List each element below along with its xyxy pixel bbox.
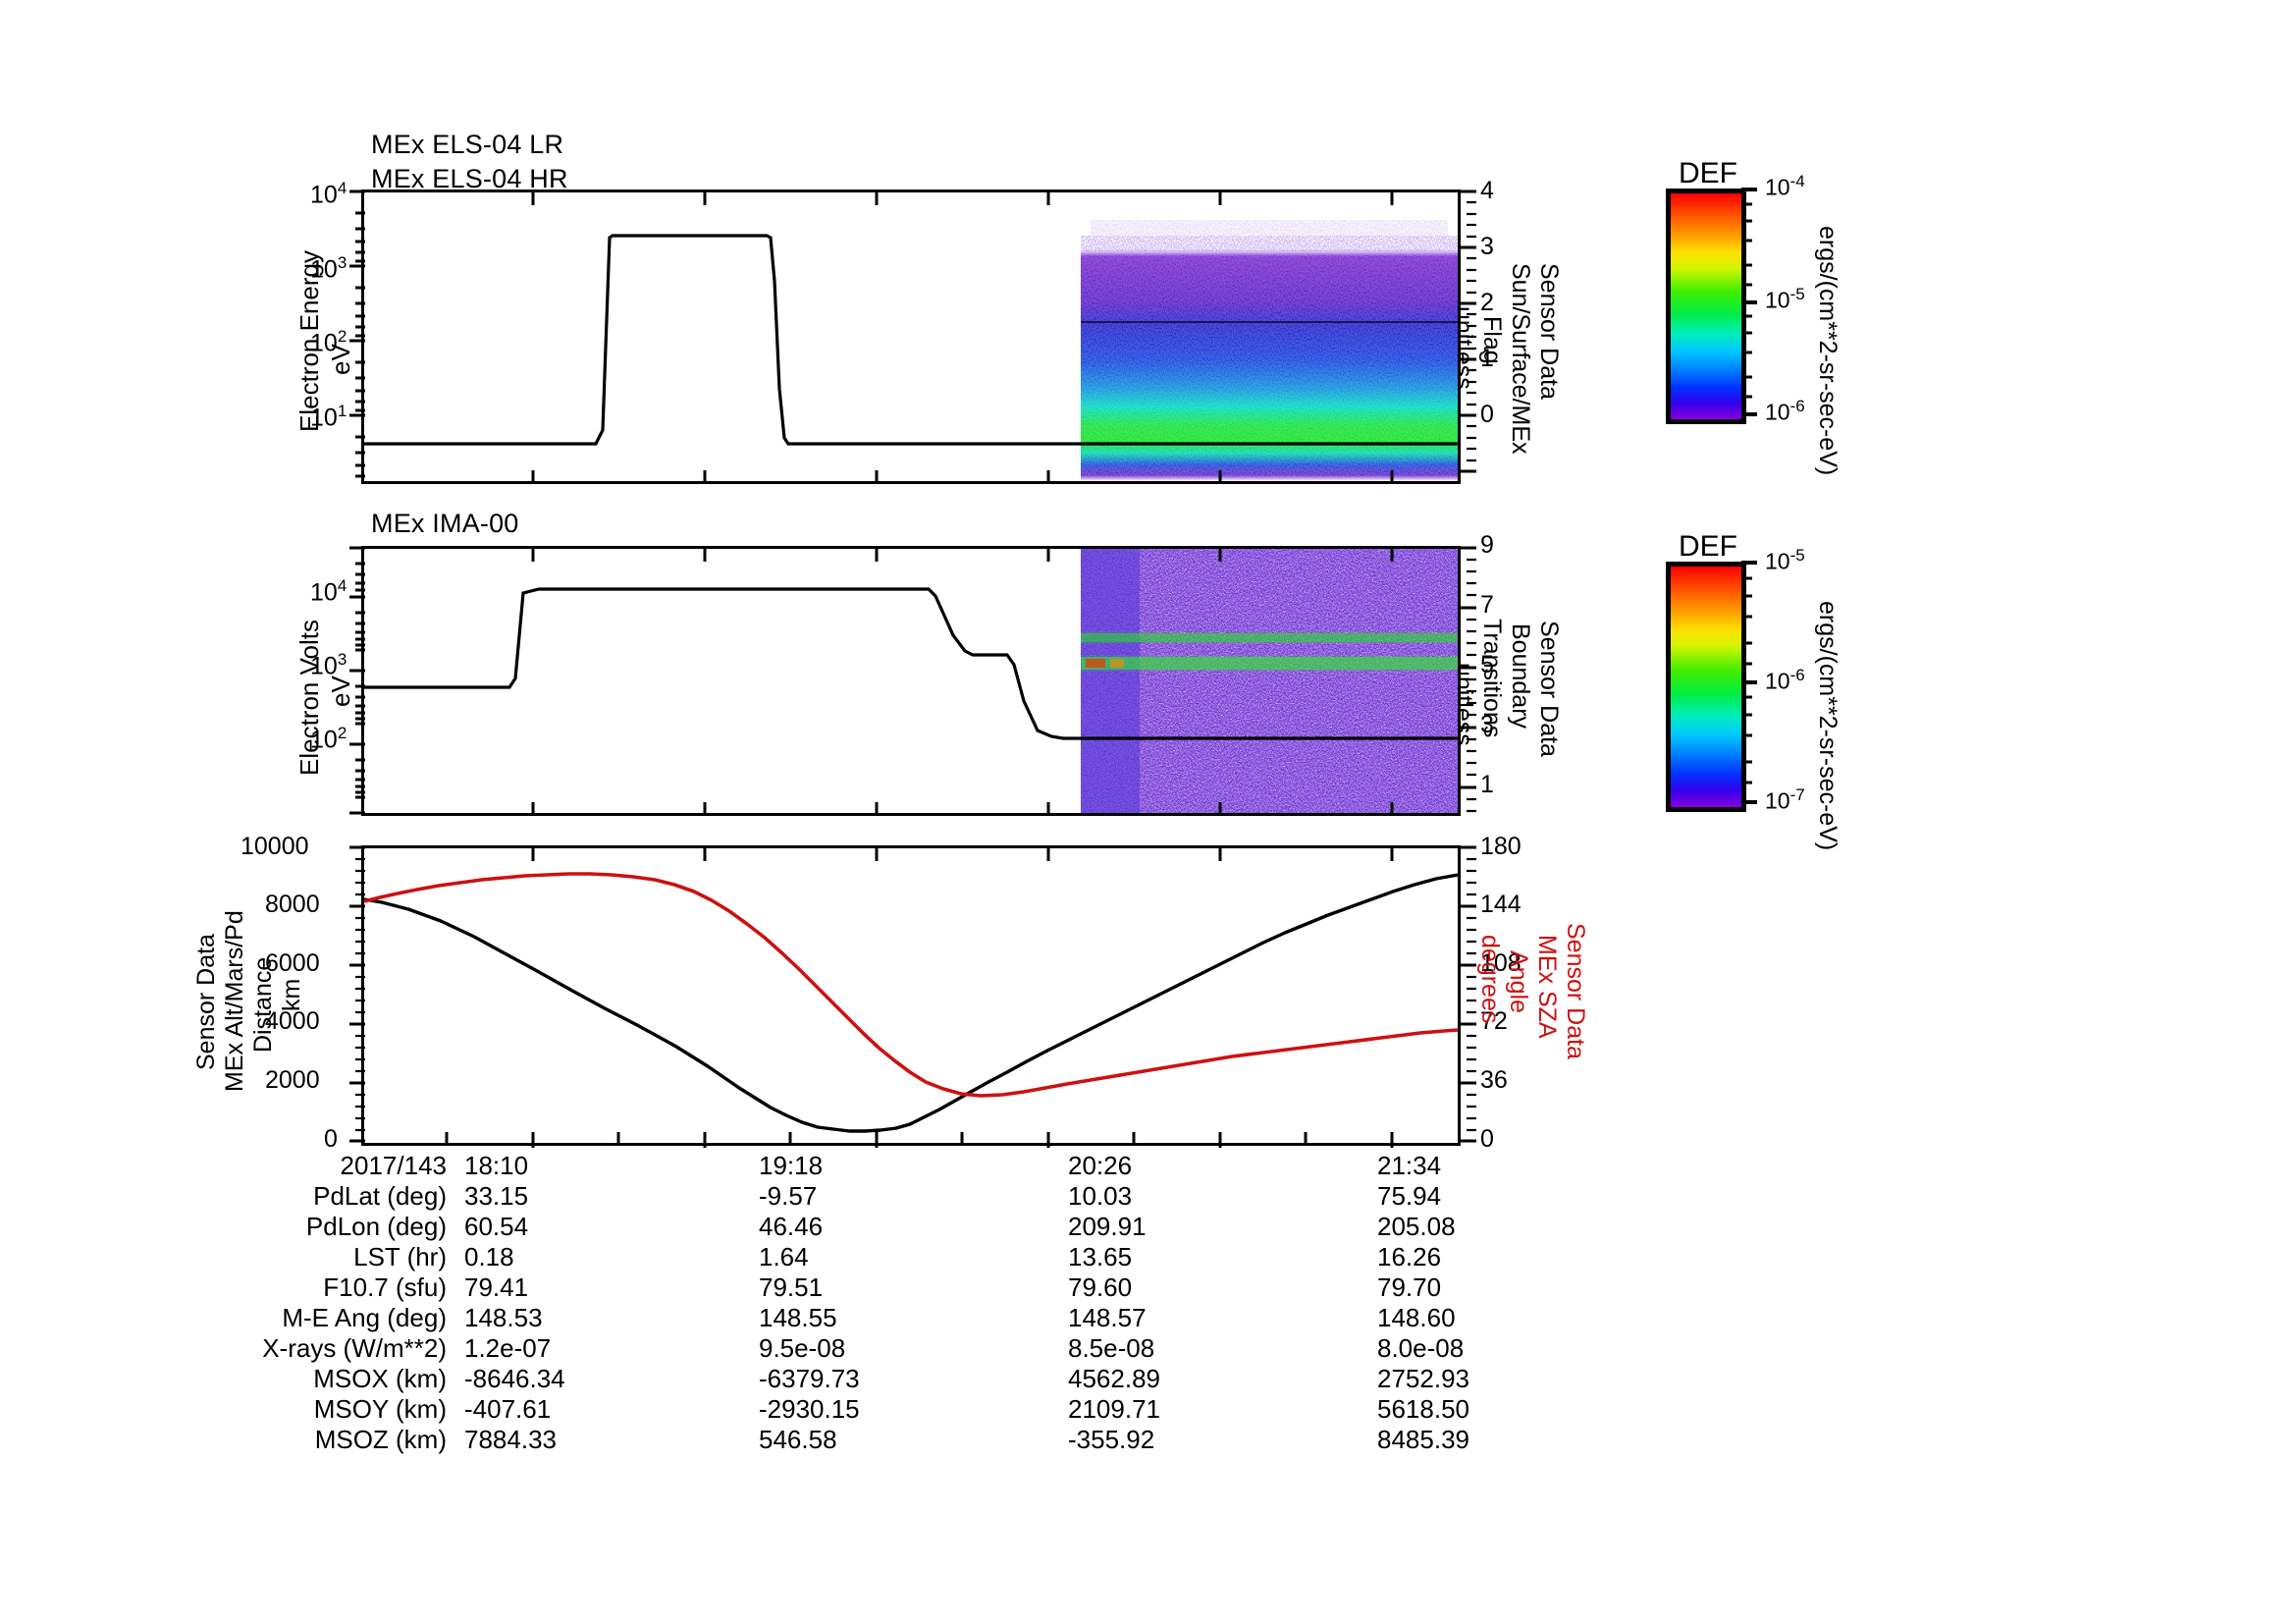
row-value: 148.55 (759, 1303, 1068, 1333)
els-y2tick-3: 3 (1480, 233, 1494, 261)
table-row: F10.7 (sfu) 79.41 79.51 79.60 79.70 (191, 1272, 1469, 1303)
row-value: 209.91 (1068, 1212, 1377, 1242)
row-value: 79.60 (1068, 1272, 1377, 1303)
row-value: 148.60 (1377, 1303, 1469, 1333)
alt-left-axis-label-2: MEx Alt/Mars/Pd (221, 910, 249, 1092)
alt-y2tick-144: 144 (1480, 891, 1522, 919)
row-value: 8.5e-08 (1068, 1333, 1377, 1364)
row-value: 4562.89 (1068, 1364, 1377, 1394)
row-value: -6379.73 (759, 1364, 1068, 1394)
panel-els-plot (364, 192, 1458, 481)
colorbar-1-top-label: 10-4 (1765, 172, 1805, 201)
row-label: F10.7 (sfu) (191, 1272, 464, 1303)
ima-y2tick-7: 7 (1480, 591, 1494, 620)
row-label: M-E Ang (deg) (191, 1303, 464, 1333)
ima-left-ticks (349, 546, 365, 816)
els-top-ticks (361, 189, 1461, 209)
row-value: 79.70 (1377, 1272, 1469, 1303)
ima-y2tick-1: 1 (1480, 771, 1494, 799)
row-value: 10.03 (1068, 1181, 1377, 1212)
row-value: 20:26 (1068, 1151, 1377, 1181)
row-value: 2752.93 (1377, 1364, 1469, 1394)
els-y2tick-4: 4 (1480, 177, 1494, 205)
ima-top-ticks (361, 546, 1461, 564)
row-value: 21:34 (1377, 1151, 1469, 1181)
row-value: 19:18 (759, 1151, 1068, 1181)
row-value: -2930.15 (759, 1394, 1068, 1425)
colorbar-2-top-label: 10-5 (1765, 546, 1805, 575)
alt-left-axis-label-4: km (278, 979, 306, 1011)
ima-right-axis-label-1: Sensor Data (1534, 621, 1563, 757)
els-y2tick-2: 2 (1480, 289, 1494, 317)
colorbar-2-gradient (1666, 562, 1746, 812)
row-value: 33.15 (464, 1181, 759, 1212)
alt-right-axis-label-4: degrees (1475, 935, 1504, 1023)
row-label: PdLon (deg) (191, 1212, 464, 1242)
row-value: 13.65 (1068, 1242, 1377, 1272)
row-value: 8485.39 (1377, 1425, 1469, 1455)
row-label: 2017/143 (191, 1151, 464, 1181)
alt-right-axis-label-2: MEx SZA (1532, 935, 1561, 1039)
colorbar-1-ticks (1741, 187, 1759, 418)
alt-y2tick-180: 180 (1480, 833, 1522, 861)
row-value: 79.51 (759, 1272, 1068, 1303)
row-label: MSOY (km) (191, 1394, 464, 1425)
panel-ima-plot (364, 549, 1458, 813)
els-right-axis-label-1: Sensor Data (1534, 263, 1563, 400)
row-value: -407.61 (464, 1394, 759, 1425)
alt-y2tick-0: 0 (1480, 1125, 1494, 1154)
table-row: LST (hr) 0.18 1.64 13.65 16.26 (191, 1242, 1469, 1272)
row-value: 79.41 (464, 1272, 759, 1303)
alt-left-axis-label-1: Sensor Data (192, 934, 221, 1070)
row-value: 8.0e-08 (1377, 1333, 1469, 1364)
colorbar-2-ticks (1741, 560, 1759, 806)
ima-ytick-1e4: 104 (310, 576, 347, 607)
row-label: PdLat (deg) (191, 1181, 464, 1212)
row-value: 60.54 (464, 1212, 759, 1242)
colorbar-1-bottom-label: 10-6 (1765, 397, 1805, 426)
panel-alt-plot (364, 848, 1458, 1143)
row-value: -9.57 (759, 1181, 1068, 1212)
row-label: LST (hr) (191, 1242, 464, 1272)
table-row: X-rays (W/m**2) 1.2e-07 9.5e-08 8.5e-08 … (191, 1333, 1469, 1364)
row-value: 0.18 (464, 1242, 759, 1272)
table-row: MSOZ (km) 7884.33 546.58 -355.92 8485.39 (191, 1425, 1469, 1455)
row-value: 16.26 (1377, 1242, 1469, 1272)
alt-y2tick-36: 36 (1480, 1066, 1508, 1095)
els-right-axis-label-3: Flag (1477, 316, 1506, 364)
ima-right-axis-label-3: Transitions (1477, 619, 1506, 737)
colorbar-1-title: DEF (1679, 157, 1737, 190)
colorbar-1-unit-label: ergs/(cm**2-sr-sec-eV) (1813, 226, 1842, 475)
ima-left-axis-label: Electron Volts (294, 620, 325, 776)
row-value: 46.46 (759, 1212, 1068, 1242)
els-right-ticks (1461, 189, 1476, 484)
els-y2tick-0: 0 (1480, 401, 1494, 429)
panel-els-title-lr: MEx ELS-04 LR (371, 130, 563, 160)
time-axis-ticks (361, 1130, 1461, 1150)
ima-right-axis-label-2: Boundary (1506, 623, 1534, 729)
alt-left-ticks (349, 845, 365, 1146)
els-left-axis-label: Electron Energy (294, 250, 325, 432)
alt-right-axis-label-3: Angle (1504, 950, 1532, 1013)
row-label: MSOX (km) (191, 1364, 464, 1394)
row-label: MSOZ (km) (191, 1425, 464, 1455)
row-value: 205.08 (1377, 1212, 1469, 1242)
row-value: 148.57 (1068, 1303, 1377, 1333)
info-table: 2017/143 18:10 19:18 20:26 21:34 PdLat (… (191, 1151, 1469, 1455)
colorbar-2-unit-label: ergs/(cm**2-sr-sec-eV) (1813, 601, 1842, 850)
ima-y2tick-9: 9 (1480, 531, 1494, 560)
row-value: 75.94 (1377, 1181, 1469, 1212)
table-row: MSOY (km) -407.61 -2930.15 2109.71 5618.… (191, 1394, 1469, 1425)
alt-ytick-0: 0 (324, 1125, 338, 1154)
row-value: 1.64 (759, 1242, 1068, 1272)
alt-ytick-10000: 10000 (240, 833, 309, 861)
row-value: 5618.50 (1377, 1394, 1469, 1425)
panel-ima-title: MEx IMA-00 (371, 509, 519, 539)
table-row: PdLat (deg) 33.15 -9.57 10.03 75.94 (191, 1181, 1469, 1212)
table-row: 2017/143 18:10 19:18 20:26 21:34 (191, 1151, 1469, 1181)
row-value: -8646.34 (464, 1364, 759, 1394)
colorbar-2-title: DEF (1679, 530, 1737, 564)
alt-ytick-8000: 8000 (265, 891, 320, 919)
row-value: 148.53 (464, 1303, 759, 1333)
row-value: 7884.33 (464, 1425, 759, 1455)
els-left-ticks (349, 189, 365, 484)
ima-bottom-ticks (361, 800, 1461, 818)
alt-left-axis-label-3: Distance (249, 957, 278, 1053)
table-row: M-E Ang (deg) 148.53 148.55 148.57 148.6… (191, 1303, 1469, 1333)
table-row: MSOX (km) -8646.34 -6379.73 4562.89 2752… (191, 1364, 1469, 1394)
alt-top-ticks (361, 845, 1461, 863)
row-label: X-rays (W/m**2) (191, 1333, 464, 1364)
ima-right-ticks (1461, 546, 1476, 816)
row-value: 18:10 (464, 1151, 759, 1181)
alt-ytick-2000: 2000 (265, 1066, 320, 1095)
colorbar-2-bottom-label: 10-7 (1765, 785, 1805, 815)
table-row: PdLon (deg) 60.54 46.46 209.91 205.08 (191, 1212, 1469, 1242)
alt-right-ticks (1461, 845, 1476, 1146)
row-value: -355.92 (1068, 1425, 1377, 1455)
row-value: 546.58 (759, 1425, 1068, 1455)
row-value: 9.5e-08 (759, 1333, 1068, 1364)
alt-right-axis-label-1: Sensor Data (1561, 923, 1589, 1059)
row-value: 1.2e-07 (464, 1333, 759, 1364)
colorbar-2-mid-label: 10-6 (1765, 666, 1805, 695)
colorbar-1-gradient (1666, 189, 1746, 424)
row-value: 2109.71 (1068, 1394, 1377, 1425)
els-right-axis-label-2: Sun/Surface/MEx (1506, 263, 1534, 455)
colorbar-1-mid-label: 10-5 (1765, 285, 1805, 314)
els-bottom-ticks (361, 468, 1461, 486)
els-ytick-1e4: 104 (310, 179, 347, 209)
